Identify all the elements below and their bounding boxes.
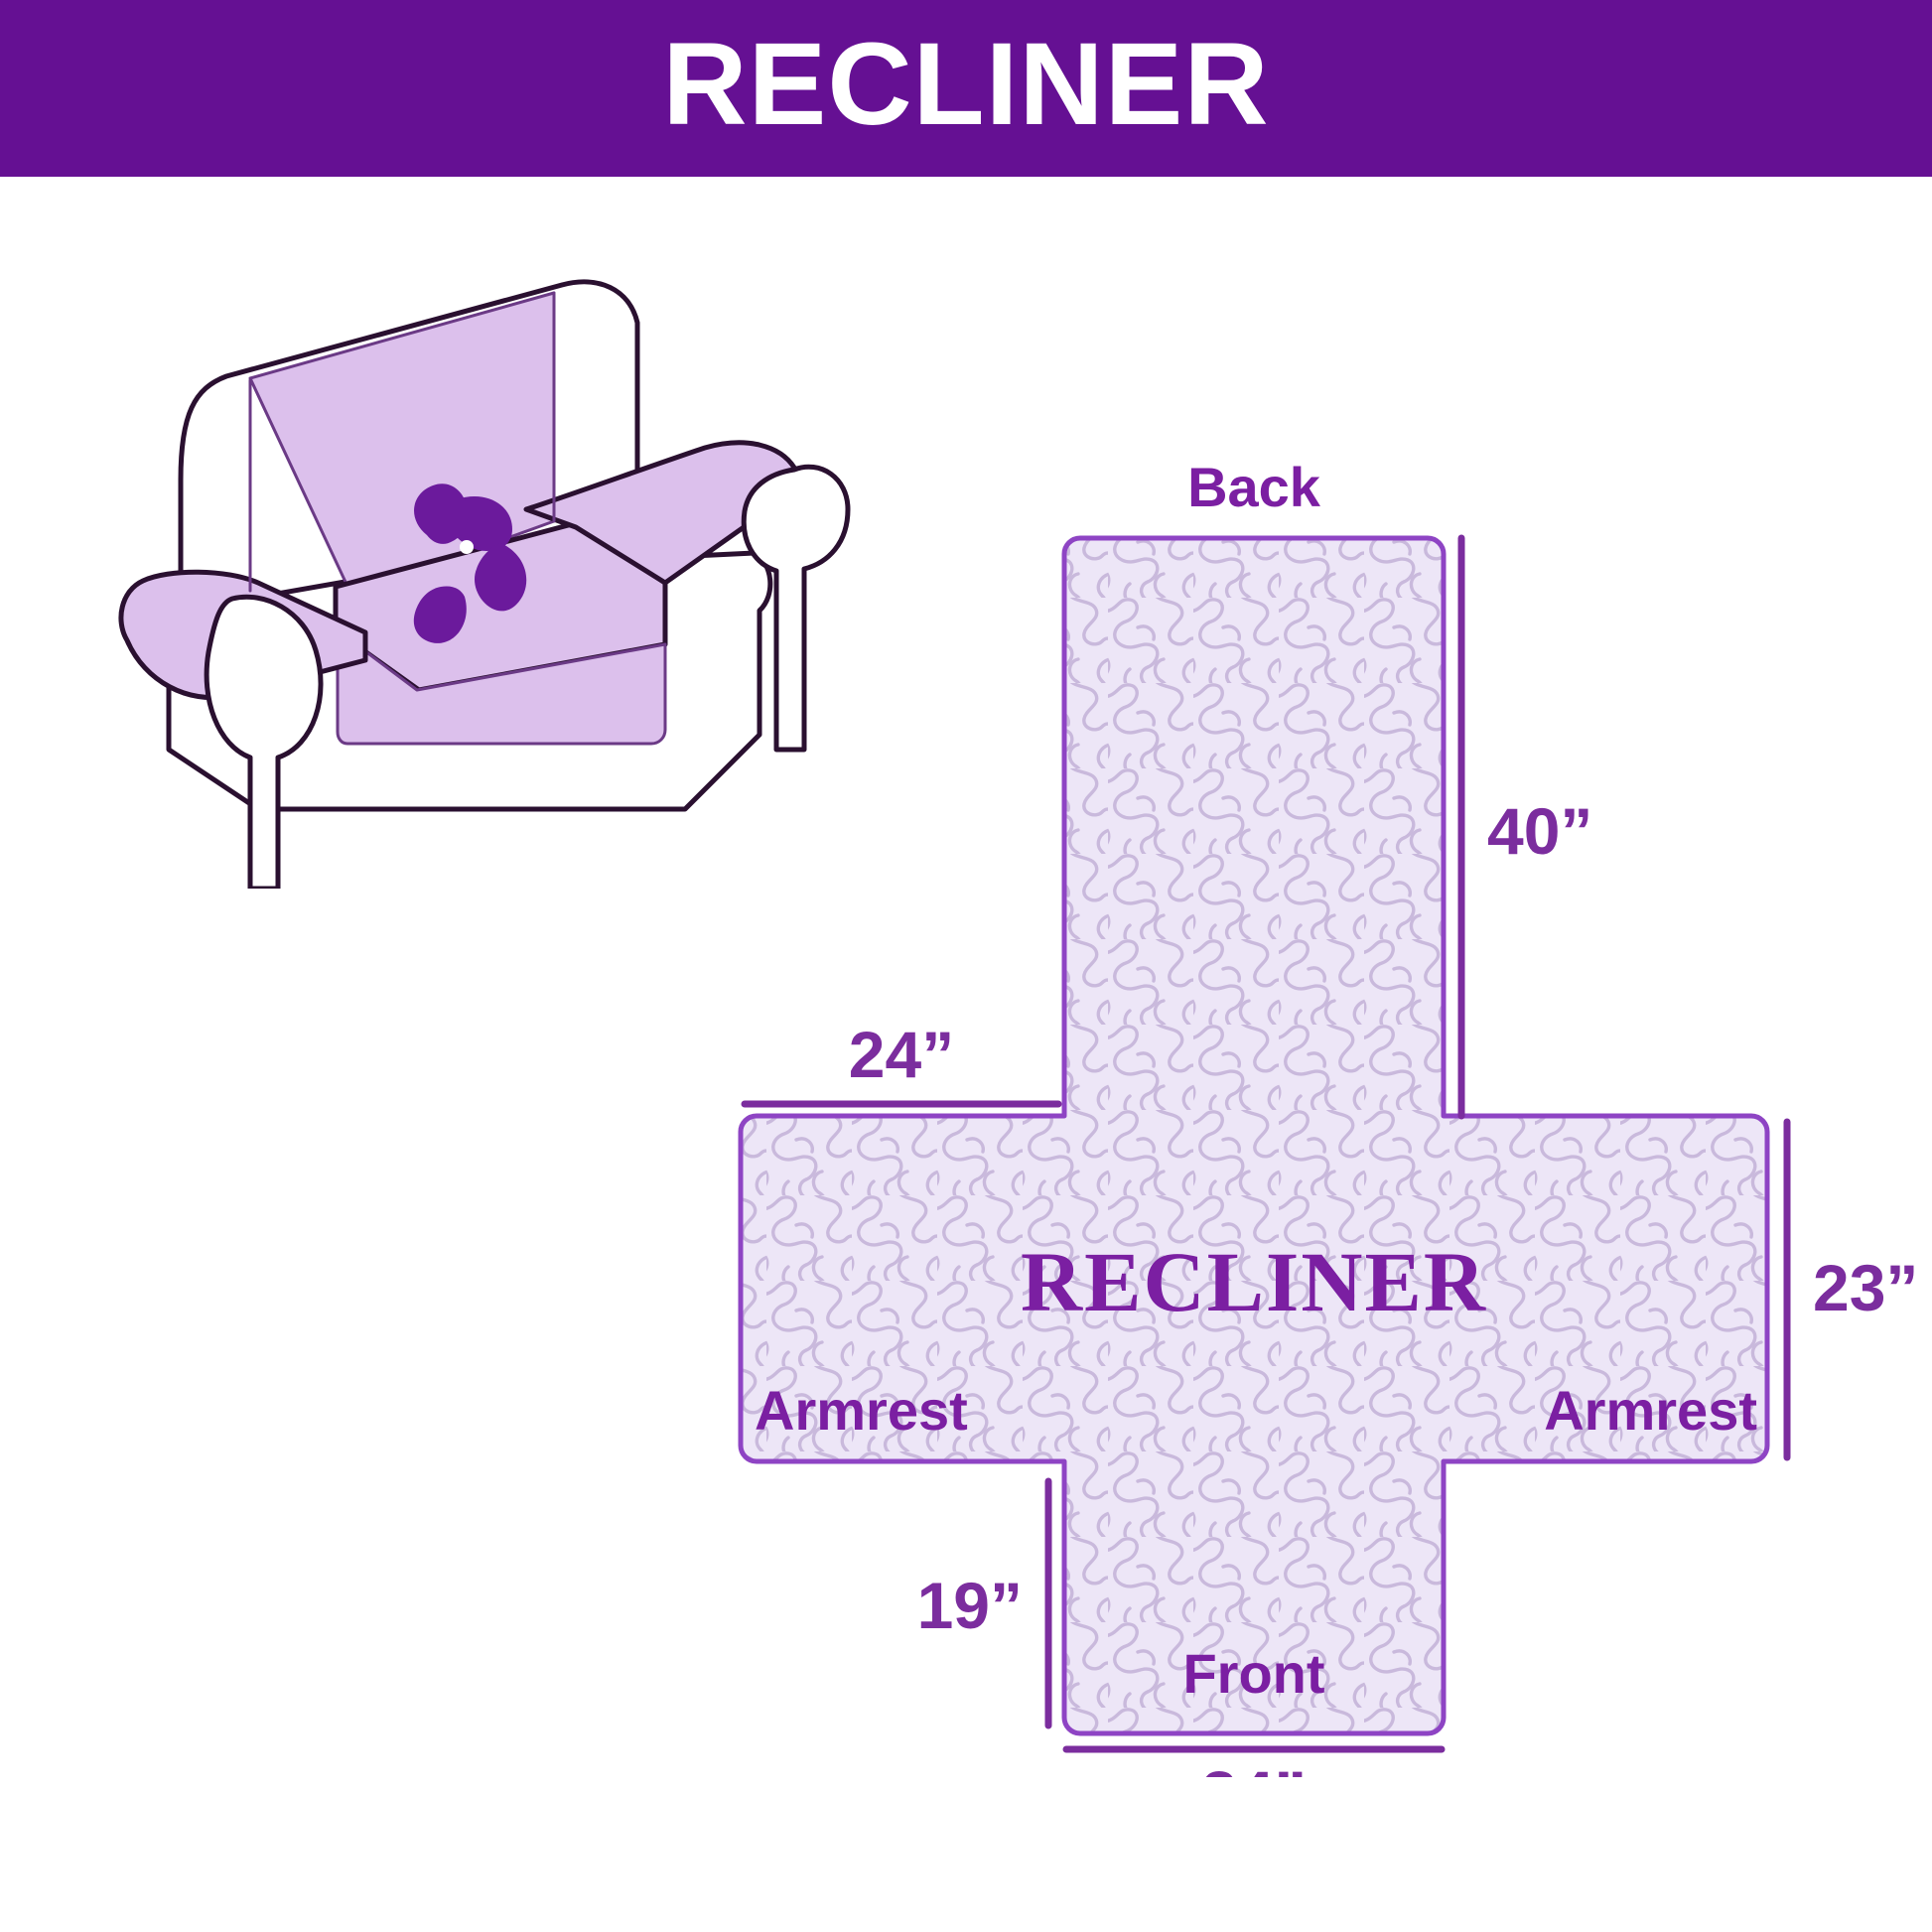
dimension-body-height: 23”: [1787, 1122, 1916, 1457]
region-label-front: Front: [1182, 1642, 1324, 1705]
cover-pattern-diagram: Back RECLINER Armrest Armrest Front 40” …: [596, 427, 1916, 1777]
region-label-recliner: RECLINER: [1021, 1234, 1487, 1329]
dimension-label-19: 19”: [917, 1569, 1023, 1642]
dimension-label-24-top: 24”: [849, 1018, 954, 1091]
dimension-label-24-bottom: 24”: [1201, 1757, 1307, 1777]
pattern-diagram-svg: Back RECLINER Armrest Armrest Front 40” …: [596, 427, 1916, 1777]
dimension-front-width: 24”: [1066, 1749, 1442, 1777]
dimension-armrest-width: 24”: [745, 1018, 1058, 1104]
header-banner: RECLINER: [0, 0, 1932, 177]
region-label-armrest-left: Armrest: [755, 1379, 968, 1442]
region-label-back: Back: [1187, 456, 1321, 518]
cover-cross-shape: [741, 538, 1767, 1733]
page-title: RECLINER: [662, 26, 1269, 143]
dimension-label-40: 40”: [1487, 794, 1592, 868]
dimension-back-height: 40”: [1461, 538, 1592, 1116]
page-root: RECLINER .ol{fill:none;stroke:#2A1030;st…: [0, 0, 1932, 1932]
dimension-front-height: 19”: [917, 1481, 1048, 1725]
dimension-label-23: 23”: [1813, 1251, 1916, 1324]
region-label-armrest-right: Armrest: [1544, 1379, 1757, 1442]
